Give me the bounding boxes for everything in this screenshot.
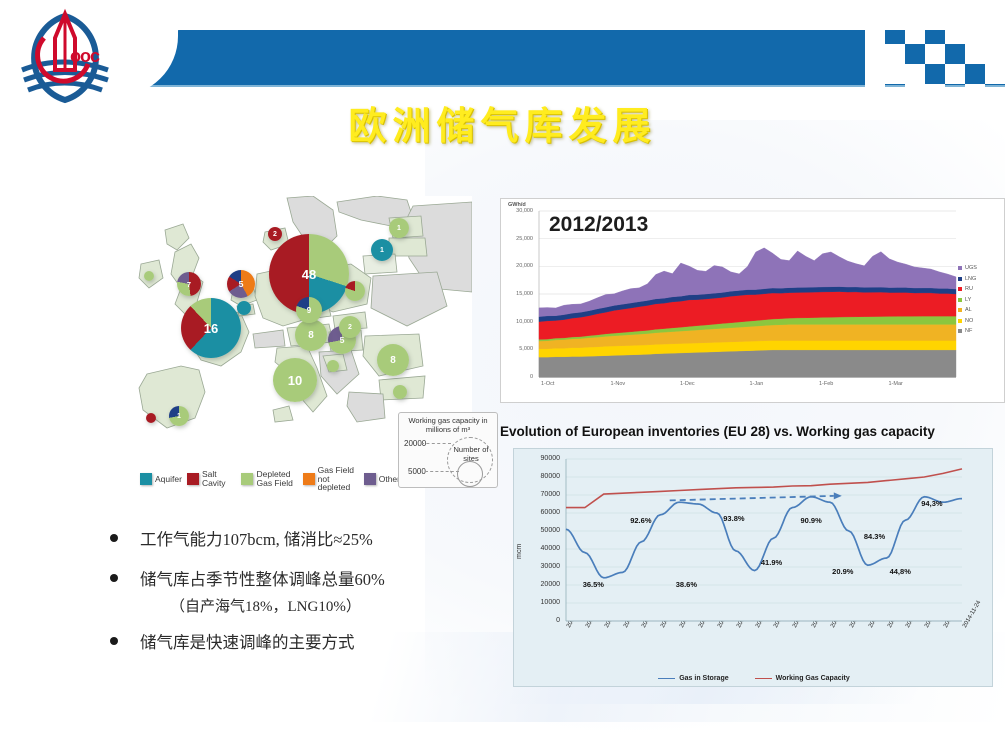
map-legend-item: Gas Field not depleted [303,466,359,493]
map-site-count: 9 [296,297,322,323]
map-legend-item: Other [364,473,400,485]
map-site-count: 2 [268,227,282,241]
map-site-count: 10 [273,358,317,402]
chart1-legend: UGSLNGRULYALNONF [958,265,998,339]
map-legend-swatch [187,473,199,485]
page-title: 欧洲储气库发展 [0,95,1005,150]
map-legend-label: Aquifer [155,475,182,484]
chart2-legend-item: Working Gas Capacity [755,675,850,682]
chart1-legend-item: NO [958,318,998,324]
chart1-legend-label: NF [965,328,972,334]
chart2-legend-line [658,678,675,679]
map-site-count: 8 [377,344,409,376]
map-site-pie: 2 [339,316,361,338]
bullet-subtext: （自产海气18%，LNG10%） [170,595,385,616]
cnooc-logo: ooc [8,8,128,104]
chart1-legend-swatch [958,298,962,302]
map-site-count: 7 [177,272,201,296]
eu28-inventories-chart: mcm 900008000070000600005000040000300002… [513,448,993,687]
bullet-dot-icon [110,534,118,542]
chart2-data-label: 93.8% [723,514,744,523]
map-legend: AquiferSalt CavityDepleted Gas FieldGas … [140,467,400,491]
map-site-pie: 10 [273,358,317,402]
map-site-pie: 1 [169,406,189,426]
map-site-pie [393,385,407,399]
map-site-pie: 8 [377,344,409,376]
map-site-count: 1 [371,239,393,261]
map-site-pie [327,360,339,372]
map-site-count: 1 [169,406,189,426]
map-legend-swatch [364,473,376,485]
map-site-pie: 16 [181,298,241,358]
map-legend-swatch [241,473,253,485]
map-site-pie: 9 [296,297,322,323]
chart2-data-label: 92.6% [630,516,651,525]
chart2-data-label: 94,3% [921,499,942,508]
map-legend-swatch [303,473,315,485]
chart1-legend-label: UGS [965,265,977,271]
map-site-pie: 5 [227,270,255,298]
chart2-data-label: 41.9% [761,558,782,567]
map-legend-label: Salt Cavity [202,470,237,488]
chart1-legend-item: AL [958,307,998,313]
working-gas-capacity-legend: Working gas capacity in millions of m³ 2… [398,412,498,488]
map-site-pie [146,413,156,423]
chart2-legend-label: Gas in Storage [679,675,728,682]
map-site-pie: 8 [295,319,327,351]
bullet-item: 储气库是快速调峰的主要方式 [110,630,540,656]
bullet-list: 工作气能力107bcm, 储消比≈25%储气库占季节性整体调峰总量60%（自产海… [110,527,540,670]
capacity-tick-line-high [421,443,451,444]
map-legend-label: Other [379,475,400,484]
chart2-data-label: 20.9% [832,567,853,576]
capacity-tick-low: 5000 [408,467,426,476]
bullet-item: 储气库占季节性整体调峰总量60%（自产海气18%，LNG10%） [110,567,540,617]
chart1-legend-label: AL [965,307,972,313]
map-legend-item: Depleted Gas Field [241,470,297,488]
chart2-data-label: 36.5% [583,580,604,589]
map-site-count: 1 [389,218,409,238]
map-site-count: 8 [295,319,327,351]
chart1-legend-swatch [958,319,962,323]
chart2-data-label: 38.6% [676,580,697,589]
map-site-pie: 1 [389,218,409,238]
map-site-pie [345,281,365,301]
map-site-pie [237,301,251,315]
bullet-text: 储气库占季节性整体调峰总量60% [140,567,385,593]
chart2-data-label: 84.3% [864,532,885,541]
chart1-legend-label: LY [965,297,971,303]
map-legend-item: Salt Cavity [187,470,237,488]
map-legend-item: Aquifer [140,473,182,485]
capacity-bubble-small [457,461,483,487]
chart1-plot [501,199,1005,404]
map-site-count: 2 [339,316,361,338]
chart1-legend-item: LNG [958,276,998,282]
map-legend-label: Gas Field not depleted [318,466,359,493]
bullet-text: 工作气能力107bcm, 储消比≈25% [140,527,373,553]
map-legend-label: Depleted Gas Field [256,470,297,488]
chart1-legend-item: RU [958,286,998,292]
chart1-legend-swatch [958,287,962,291]
bullet-item: 工作气能力107bcm, 储消比≈25% [110,527,540,553]
chart1-legend-item: NF [958,328,998,334]
chart1-legend-label: LNG [965,276,976,282]
map-legend-swatch [140,473,152,485]
bullet-text: 储气库是快速调峰的主要方式 [140,630,355,656]
europe-gas-storage-map: 48161058928117521 [137,196,472,436]
chart1-legend-swatch [958,266,962,270]
chart2-data-label: 44,8% [890,567,911,576]
chart1-legend-label: RU [965,286,973,292]
chart2-plot [514,449,994,688]
chart1-legend-item: UGS [958,265,998,271]
map-site-pie: 1 [371,239,393,261]
chart1-legend-label: NO [965,318,973,324]
chart1-legend-swatch [958,277,962,281]
chart2-data-label: 90.9% [801,516,822,525]
svg-text:ooc: ooc [70,46,100,66]
chart1-legend-swatch [958,308,962,312]
map-site-pie [144,271,154,281]
chart1-legend-item: LY [958,297,998,303]
header-banner-notch [140,30,200,87]
map-site-pie: 7 [177,272,201,296]
bullet-dot-icon [110,574,118,582]
european-gas-supply-stack-chart: GWh/d 2012/2013 30,00025,00020,00015,000… [500,198,1005,403]
chart1-legend-swatch [958,329,962,333]
map-site-count: 16 [181,298,241,358]
chart2-legend-line [755,678,772,679]
map-site-pie: 2 [268,227,282,241]
header-checker-pattern [865,30,1005,87]
chart2-legend-item: Gas in Storage [658,675,728,682]
chart2-title: Evolution of European inventories (EU 28… [500,424,935,439]
chart2-legend: Gas in StorageWorking Gas Capacity [584,675,924,682]
capacity-bubble-label: Number of sites [447,445,495,463]
capacity-legend-title: Working gas capacity in millions of m³ [399,416,497,435]
map-site-count: 5 [227,270,255,298]
bullet-dot-icon [110,637,118,645]
chart2-legend-label: Working Gas Capacity [776,675,850,682]
